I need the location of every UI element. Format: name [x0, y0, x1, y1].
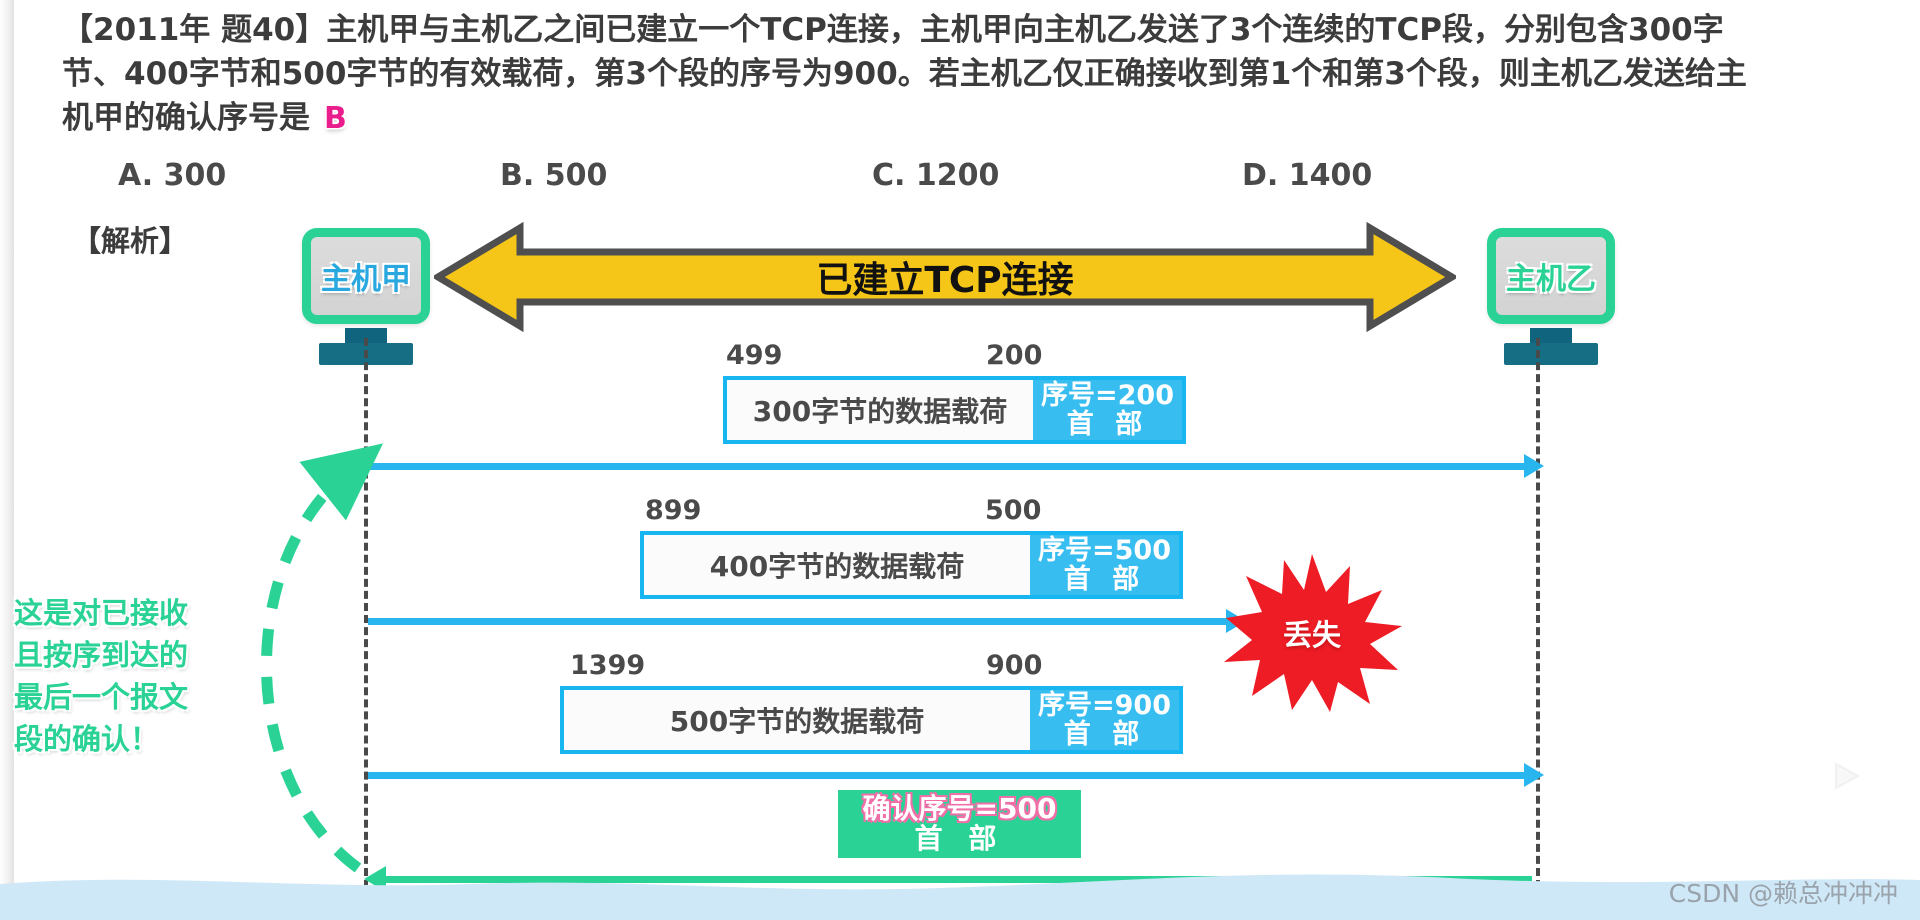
ack-seq-label: 确认序号=500 — [863, 794, 1057, 824]
segment-3-left-number: 1399 — [570, 650, 645, 681]
question-line-1: 【2011年 题40】主机甲与主机乙之间已建立一个TCP连接，主机甲向主机乙发送… — [62, 8, 1862, 52]
csdn-watermark: CSDN @赖总冲冲冲 — [1669, 874, 1898, 910]
ack-segment-box: 确认序号=500 首 部 — [838, 790, 1081, 858]
option-d[interactable]: D. 1400 — [1242, 158, 1372, 193]
segment-2-header-label: 首 部 — [1064, 565, 1145, 594]
segment-3-header-label: 首 部 — [1064, 720, 1145, 749]
timeline-right — [1536, 338, 1540, 888]
analysis-label: 【解析】 — [72, 218, 188, 260]
option-b[interactable]: B. 500 — [500, 158, 607, 193]
host-left-label: 主机甲 — [321, 254, 411, 298]
option-c[interactable]: C. 1200 — [872, 158, 999, 193]
host-right-base — [1504, 343, 1598, 365]
packet-lost-badge: 丢失 — [1222, 552, 1402, 712]
segment-2-left-number: 899 — [645, 495, 701, 526]
segment-1-header-label: 首 部 — [1067, 410, 1148, 439]
segment-1-box: 300字节的数据载荷 序号=200 首 部 — [723, 376, 1186, 444]
segment-2-payload: 400字节的数据载荷 — [644, 535, 1030, 595]
segment-2-transmission-line — [368, 618, 1230, 625]
segment-2-header-seq: 序号=500 — [1038, 536, 1171, 565]
segment-1-payload: 300字节的数据载荷 — [727, 380, 1033, 440]
segment-2-header: 序号=500 首 部 — [1030, 535, 1179, 595]
note-line-2: 且按序到达的 — [14, 634, 234, 676]
segment-1-left-number: 499 — [726, 340, 782, 371]
segment-3-arrow-head — [1524, 763, 1544, 787]
segment-1-arrow-head — [1524, 454, 1544, 478]
bilibili-tv-icon — [1798, 730, 1890, 812]
segment-3-header-seq: 序号=900 — [1038, 691, 1171, 720]
question-line-3-text: 机甲的确认序号是 — [62, 100, 310, 136]
selected-answer-badge: B — [320, 97, 351, 141]
host-right: 主机乙 — [1487, 228, 1615, 324]
explanation-note: 这是对已接收 且按序到达的 最后一个报文 段的确认！ — [14, 592, 234, 760]
note-line-4: 段的确认！ — [14, 718, 234, 760]
question-line-2: 节、400字节和500字节的有效载荷，第3个段的序号为900。若主机乙仅正确接收… — [62, 52, 1862, 96]
tv-play-icon — [1798, 730, 1890, 812]
slide-canvas: 【2011年 题40】主机甲与主机乙之间已建立一个TCP连接，主机甲向主机乙发送… — [0, 0, 1920, 920]
segment-1-header-seq: 序号=200 — [1041, 381, 1174, 410]
ack-pointer-curve — [210, 420, 410, 880]
segment-3-right-number: 900 — [986, 650, 1042, 681]
segment-2-right-number: 500 — [985, 495, 1041, 526]
tcp-connection-banner: 已建立TCP连接 — [434, 222, 1456, 332]
ack-header-label: 首 部 — [915, 824, 1005, 854]
host-left: 主机甲 — [302, 228, 430, 324]
water-wave-shape — [0, 864, 1920, 920]
question-line-3: 机甲的确认序号是B — [62, 96, 1862, 141]
segment-3-box: 500字节的数据载荷 序号=900 首 部 — [560, 686, 1183, 754]
connection-banner-text: 已建立TCP连接 — [816, 251, 1073, 303]
packet-lost-text: 丢失 — [1222, 612, 1402, 654]
connection-banner-text-wrap: 已建立TCP连接 — [434, 222, 1456, 332]
option-a[interactable]: A. 300 — [118, 158, 226, 193]
segment-3-payload: 500字节的数据载荷 — [564, 690, 1030, 750]
segment-3-header: 序号=900 首 部 — [1030, 690, 1179, 750]
host-right-monitor: 主机乙 — [1487, 228, 1615, 324]
segment-1-header: 序号=200 首 部 — [1033, 380, 1182, 440]
segment-2-box: 400字节的数据载荷 序号=500 首 部 — [640, 531, 1183, 599]
bottom-water-band — [0, 864, 1920, 920]
host-left-monitor: 主机甲 — [302, 228, 430, 324]
segment-1-transmission-line — [368, 463, 1528, 470]
page-left-edge — [0, 0, 14, 920]
note-line-1: 这是对已接收 — [14, 592, 234, 634]
segment-3-transmission-line — [368, 772, 1528, 779]
note-line-3: 最后一个报文 — [14, 676, 234, 718]
host-right-label: 主机乙 — [1506, 254, 1596, 298]
question-text: 【2011年 题40】主机甲与主机乙之间已建立一个TCP连接，主机甲向主机乙发送… — [62, 8, 1862, 141]
segment-1-right-number: 200 — [986, 340, 1042, 371]
